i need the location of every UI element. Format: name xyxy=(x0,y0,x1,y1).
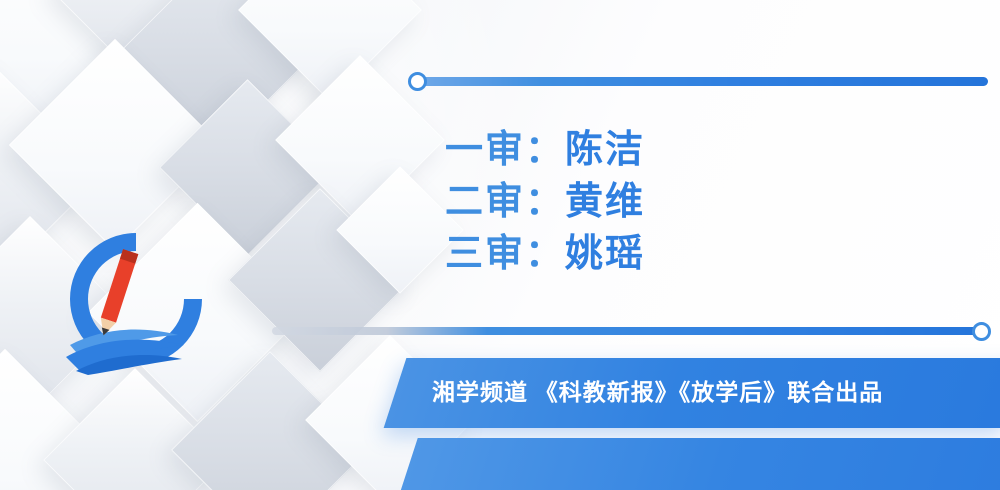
credit-label-2: 二审： xyxy=(445,181,565,223)
logo-graphic xyxy=(52,225,212,375)
credit-name-2: 黄维 xyxy=(565,181,645,223)
accent-bar-middle xyxy=(272,327,990,335)
footer-ribbon-secondary xyxy=(398,438,1000,490)
credits-block: 一审：陈洁 二审：黄维 三审：姚瑶 xyxy=(445,124,965,280)
footer-text: 湘学频道 《科教新报》《放学后》联合出品 xyxy=(432,374,992,412)
pencil-wave-book-logo xyxy=(52,225,212,375)
endcard-slide: 湘学频道 《科教新报》《放学后》联合出品 一审：陈洁 二审：黄维 三审：姚瑶 xyxy=(0,0,1000,490)
accent-dot-top xyxy=(408,72,427,91)
credit-row-3: 三审：姚瑶 xyxy=(445,228,965,280)
credit-row-1: 一审：陈洁 xyxy=(445,124,965,176)
accent-bar-top xyxy=(418,77,988,86)
credit-label-1: 一审： xyxy=(445,129,565,171)
credit-label-3: 三审： xyxy=(445,233,565,275)
credit-name-1: 陈洁 xyxy=(565,129,645,171)
credit-name-3: 姚瑶 xyxy=(565,233,645,275)
credit-row-2: 二审：黄维 xyxy=(445,176,965,228)
accent-dot-right xyxy=(972,322,991,341)
